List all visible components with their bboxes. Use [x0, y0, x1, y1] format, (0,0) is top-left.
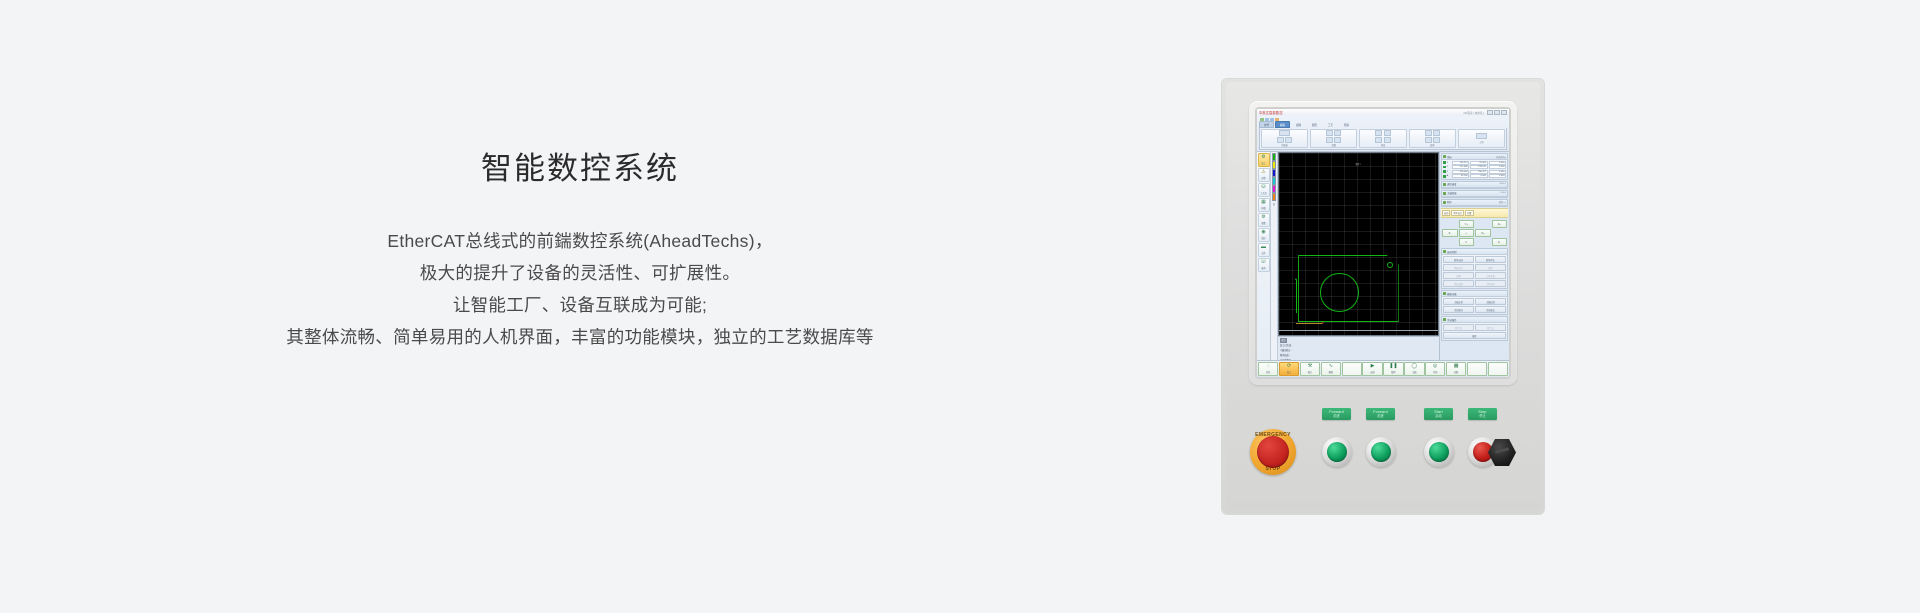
- log-line: 加工已完成…: [1280, 343, 1437, 347]
- start-chip[interactable]: 启动: [1442, 210, 1450, 216]
- air-off-button[interactable]: 吹气关: [1475, 324, 1506, 331]
- pause-chip[interactable]: 单步运行: [1451, 210, 1464, 216]
- ribbon-button[interactable]: [1476, 133, 1487, 139]
- air-on-button[interactable]: 吹气开: [1443, 324, 1474, 331]
- confirm-button[interactable]: 确定: [1443, 332, 1506, 339]
- jog-y-minus[interactable]: Y-: [1459, 238, 1475, 246]
- fkey-label: 模拟: [1329, 370, 1333, 374]
- section-header: 主轴转速 12000: [1442, 191, 1507, 197]
- fkey-simulation[interactable]: ∿ 模拟: [1321, 362, 1341, 376]
- sidebar-rail[interactable]: ⚙ 加工 ⚠ 诊断 ⛁ 工艺库 ▦ 排版: [1257, 152, 1271, 360]
- workpiece-origin-button[interactable]: 工件原点: [1475, 280, 1506, 287]
- sidebar-item-service[interactable]: ☏ 服务: [1258, 258, 1270, 272]
- button-cap-green[interactable]: [1371, 442, 1391, 462]
- cad-x-axis-icon: [1296, 323, 1321, 324]
- grid-icon: ▦: [1261, 200, 1266, 205]
- cad-y-axis-icon: [1296, 280, 1297, 313]
- play-icon: ▶: [1371, 364, 1375, 369]
- eye-icon: ◉: [1261, 230, 1265, 235]
- single-block-button[interactable]: 单段运行: [1443, 264, 1474, 271]
- layer-palette-label: 层: [1272, 202, 1277, 206]
- tab-edit[interactable]: 编辑: [1275, 121, 1290, 128]
- axis-offset-value: 0.000: [1489, 161, 1506, 165]
- gears-icon: ⚙: [1261, 155, 1265, 160]
- fkey-empty[interactable]: [1342, 362, 1362, 376]
- run-toolbar[interactable]: 启动 单步运行 回零: [1441, 208, 1508, 218]
- auxiliary-button-grid[interactable]: 主轴正转 主轴反转 冷却液开 冷却液关: [1442, 297, 1507, 314]
- status-dot-icon: [1443, 183, 1446, 186]
- section-header: 进给速度 2800.0: [1442, 182, 1507, 188]
- ribbon-button[interactable]: [1384, 137, 1391, 143]
- sidebar-item-files[interactable]: ▬ 文件: [1258, 243, 1270, 257]
- spindle-cw-button[interactable]: 主轴正转: [1443, 298, 1474, 305]
- sidebar-item-parameters[interactable]: ⚙ 参数: [1258, 213, 1270, 227]
- sidebar-item-diagnostics[interactable]: ⚠ 诊断: [1258, 168, 1270, 182]
- function-key-bar[interactable]: ◌ 定位 ⟳ 加工 ⚒ 校刀 ∿ 模拟 ▶ 启动: [1257, 360, 1509, 377]
- axis-work-value: 25.500: [1470, 161, 1487, 165]
- jog-pad[interactable]: Y+ Z+ X- ⌂ X+ Y- Z-: [1441, 219, 1508, 247]
- spindle-ccw-button[interactable]: 主轴反转: [1475, 298, 1506, 305]
- motion-control-section: 运动控制 程序启动 程序停止 单段运行 暂停 回零 刀具补偿 坐标设置 工件原点: [1441, 248, 1508, 289]
- axis-offset-value: 0.000: [1489, 170, 1506, 174]
- label-line-2: 启动: [1435, 415, 1441, 418]
- button-label-forward-2: Forward 前进: [1366, 408, 1395, 420]
- ribbon-button[interactable]: [1285, 137, 1292, 143]
- sidebar-item-label: 工艺库: [1260, 191, 1267, 195]
- log-line: 程序校验…: [1280, 353, 1437, 357]
- axis-machine-value: 103.270: [1452, 161, 1469, 165]
- section-title: 手动操作: [1447, 318, 1457, 322]
- fkey-label: 加工: [1287, 370, 1291, 374]
- tab-process[interactable]: 工艺: [1323, 121, 1338, 128]
- tab-graphics[interactable]: 图形: [1307, 121, 1322, 128]
- ribbon-group-label: 工具: [1479, 140, 1483, 144]
- knob-body: [1488, 439, 1516, 466]
- jog-x-minus[interactable]: X-: [1442, 229, 1458, 237]
- coolant-icon: ◎: [1433, 364, 1437, 369]
- ribbon-group-label: 变换: [1430, 143, 1434, 147]
- program-name: 部件.nc: [1499, 200, 1506, 204]
- coordinate-row: X 103.270 25.500 0.000: [1443, 161, 1506, 165]
- axis-label: X: [1447, 162, 1451, 164]
- start-button[interactable]: [1424, 437, 1454, 467]
- ribbon-group-label: 绘图: [1332, 143, 1336, 147]
- gear-icon: ⚙: [1261, 215, 1265, 220]
- section-title: 程序: [1447, 200, 1452, 204]
- ribbon-button[interactable]: [1425, 137, 1432, 143]
- program-section: 程序 部件.nc: [1441, 199, 1508, 207]
- fkey-start[interactable]: ▶ 启动: [1362, 362, 1382, 376]
- cad-hole-circle: [1320, 273, 1359, 312]
- button-label-forward-1: Forward 前进: [1322, 408, 1351, 420]
- jog-y-plus[interactable]: Y+: [1459, 220, 1475, 228]
- status-dot-icon: [1443, 250, 1446, 253]
- jog-spacer: [1475, 220, 1491, 228]
- ribbon-button[interactable]: [1433, 130, 1440, 136]
- tab-file[interactable]: 文件: [1259, 121, 1274, 128]
- status-dot-icon: [1443, 192, 1446, 195]
- log-line: Y轴回原点…: [1280, 348, 1437, 352]
- page-title: 智能数控系统: [0, 150, 1160, 187]
- ribbon-button[interactable]: [1279, 130, 1290, 136]
- fkey-label: 冷却: [1433, 370, 1437, 374]
- spindle-icon: ◯: [1412, 364, 1418, 369]
- ribbon-group-draw[interactable]: 绘图: [1310, 129, 1357, 148]
- ribbon-group-tools[interactable]: 工具: [1458, 129, 1505, 148]
- axis-work-value: 0.000: [1470, 174, 1487, 178]
- feedrate-value: 2800.0: [1499, 183, 1506, 185]
- sidebar-item-monitor[interactable]: ◉ 监控: [1258, 228, 1270, 242]
- cnc-control-panel: 中航达智能数控 NC程序 [ 未命名 ] 文件 编辑: [1222, 79, 1544, 514]
- fkey-machining[interactable]: ⟳ 加工: [1279, 362, 1299, 376]
- ribbon-button[interactable]: [1326, 137, 1333, 143]
- parameter-panel[interactable]: 坐标 (机床坐标) X 103.270 25.500 0.000: [1439, 152, 1509, 360]
- coordinate-row: Z 316.000 250.207 0.000: [1443, 170, 1506, 174]
- axis-label: Z: [1447, 171, 1451, 173]
- ribbon-button[interactable]: [1425, 130, 1432, 136]
- wave-icon: ∿: [1329, 364, 1333, 369]
- emergency-stop-cap[interactable]: [1257, 436, 1289, 468]
- fkey-label: 定位: [1266, 370, 1270, 374]
- cad-baseline: [1279, 330, 1438, 331]
- ribbon-group-label: 剪贴板: [1281, 143, 1288, 147]
- description-line-4: 其整体流畅、简单易用的人机界面，丰富的功能模块，独立的工艺数据库等: [0, 321, 1160, 353]
- axis-label: A: [1447, 175, 1451, 177]
- axis-machine-value: 221.480: [1452, 165, 1469, 169]
- program-stop-button[interactable]: 程序停止: [1475, 256, 1506, 263]
- label-line-2: 前进: [1377, 415, 1383, 418]
- section-title: 主轴转速: [1447, 191, 1457, 195]
- axis-status-icon: [1443, 166, 1446, 169]
- section-note: (机床坐标): [1496, 155, 1506, 159]
- ribbon-groups[interactable]: 剪贴板 绘图 修改 变换: [1259, 128, 1507, 150]
- motion-button-grid[interactable]: 程序启动 程序停止 单段运行 暂停 回零 刀具补偿 坐标设置 工件原点: [1442, 255, 1507, 288]
- description-line-3: 让智能工厂、设备互联成为可能;: [0, 289, 1160, 321]
- warning-icon: ⚠: [1261, 170, 1265, 175]
- layer-swatch-cyan[interactable]: [1272, 177, 1277, 185]
- maximize-icon[interactable]: [1494, 110, 1500, 115]
- manual-button-grid[interactable]: 吹气开 吹气关 确定: [1442, 323, 1507, 340]
- description-block: EtherCAT总线式的前鍴数控系统(AheadTechs)， 极大的提升了设备…: [0, 225, 1160, 353]
- axis-offset-value: 0.000: [1489, 174, 1506, 178]
- fkey-label: 功能: [1454, 370, 1458, 374]
- refresh-icon: ⟳: [1287, 364, 1291, 369]
- fkey-empty[interactable]: [1467, 362, 1487, 376]
- button-cap-green[interactable]: [1327, 442, 1347, 462]
- sidebar-item-label: 加工: [1261, 161, 1265, 165]
- tab-help[interactable]: 帮助: [1339, 121, 1354, 128]
- app-title: 中航达智能数控: [1259, 110, 1283, 115]
- emergency-stop-button[interactable]: EMERGENCY STOP: [1250, 429, 1296, 475]
- fkey-label: 暂停: [1391, 370, 1395, 374]
- monitor-bezel: 中航达智能数控 NC程序 [ 未命名 ] 文件 编辑: [1249, 101, 1517, 385]
- button-label-stop: Stop 停止: [1468, 408, 1497, 420]
- home-button[interactable]: 回零: [1443, 272, 1474, 279]
- sidebar-item-label: 服务: [1261, 266, 1265, 270]
- label-line-2: 停止: [1479, 415, 1485, 418]
- axis-machine-value: 316.000: [1452, 170, 1469, 174]
- fkey-pause[interactable]: ❚❚ 暂停: [1383, 362, 1403, 376]
- screen-titlebar: 中航达智能数控 NC程序 [ 未命名 ]: [1257, 109, 1509, 116]
- cad-canvas[interactable]: 零件1: [1278, 152, 1439, 336]
- close-icon[interactable]: [1501, 110, 1507, 115]
- coordinate-row: A 45.200 0.000 0.000: [1443, 174, 1506, 178]
- ribbon-button[interactable]: [1384, 130, 1391, 136]
- section-title: 进给速度: [1447, 182, 1457, 186]
- mode-selector-knob[interactable]: [1488, 439, 1516, 466]
- coord-setup-button[interactable]: 坐标设置: [1443, 280, 1474, 287]
- cnc-screen[interactable]: 中航达智能数控 NC程序 [ 未命名 ] 文件 编辑: [1257, 109, 1509, 377]
- fkey-positioning[interactable]: ◌ 定位: [1258, 362, 1278, 376]
- section-title: 辅助功能: [1447, 292, 1457, 296]
- jog-spacer: [1442, 238, 1458, 246]
- minimize-icon[interactable]: [1487, 110, 1493, 115]
- ribbon-button[interactable]: [1334, 137, 1341, 143]
- sidebar-item-machining[interactable]: ⚙ 加工: [1258, 153, 1270, 167]
- ribbon: 文件 编辑 视图 图形 工艺 帮助 剪贴板 绘: [1257, 116, 1509, 152]
- folder-icon: ▬: [1261, 245, 1266, 250]
- pause-icon: ❚❚: [1389, 364, 1397, 369]
- marketing-copy: 智能数控系统 EtherCAT总线式的前鍴数控系统(AheadTechs)， 极…: [0, 150, 1160, 353]
- ribbon-group-transform[interactable]: 变换: [1409, 129, 1456, 148]
- layer-swatch-green[interactable]: [1272, 153, 1277, 161]
- jog-spacer: [1475, 238, 1491, 246]
- fkey-label: 校刀: [1308, 370, 1312, 374]
- axis-work-value: 250.207: [1470, 170, 1487, 174]
- status-dot-icon: [1443, 292, 1446, 295]
- sidebar-item-label: 参数: [1261, 221, 1265, 225]
- fkey-functions[interactable]: ▩ 功能: [1446, 362, 1466, 376]
- fkey-coolant[interactable]: ◎ 冷却: [1425, 362, 1445, 376]
- spindle-value: 12000: [1500, 192, 1506, 194]
- wrench-icon: ⚒: [1308, 364, 1312, 369]
- jog-spacer: [1442, 220, 1458, 228]
- cad-annotation: 零件1: [1355, 162, 1361, 166]
- label-line-2: 前进: [1333, 415, 1339, 418]
- button-label-start: Start 启动: [1424, 408, 1453, 420]
- status-dot-icon: [1443, 155, 1446, 158]
- home-chip[interactable]: 回零: [1465, 210, 1473, 216]
- jog-z-minus[interactable]: Z-: [1492, 238, 1508, 246]
- jog-spacer: [1492, 229, 1508, 237]
- coordinate-rows: X 103.270 25.500 0.000 Y 221.480 190.511: [1442, 160, 1507, 179]
- auxiliary-section: 辅助功能 主轴正转 主轴反转 冷却液开 冷却液关: [1441, 290, 1508, 315]
- axis-offset-value: 0.000: [1489, 165, 1506, 169]
- button-cap-green[interactable]: [1429, 442, 1449, 462]
- section-title: 运动控制: [1447, 250, 1457, 254]
- screen-body: ⚙ 加工 ⚠ 诊断 ⛁ 工艺库 ▦ 排版: [1257, 152, 1509, 360]
- axis-label: Y: [1447, 166, 1451, 168]
- log-badge: 提示: [1280, 338, 1287, 343]
- layer-swatch-yellow[interactable]: [1272, 161, 1277, 169]
- ribbon-button[interactable]: [1277, 137, 1284, 143]
- sidebar-item-label: 监控: [1261, 236, 1265, 240]
- ribbon-button[interactable]: [1326, 130, 1333, 136]
- coordinates-section: 坐标 (机床坐标) X 103.270 25.500 0.000: [1441, 153, 1508, 180]
- ribbon-button[interactable]: [1375, 137, 1382, 143]
- hardware-button-area: EMERGENCY STOP Forward 前进 Forward 前进 Sta…: [1236, 397, 1530, 504]
- ribbon-button[interactable]: [1375, 130, 1382, 136]
- layer-swatch-blue[interactable]: [1272, 169, 1277, 177]
- forward-button-2[interactable]: [1366, 437, 1396, 467]
- tool-offset-button[interactable]: 刀具补偿: [1475, 272, 1506, 279]
- ribbon-button[interactable]: [1433, 137, 1440, 143]
- tab-view[interactable]: 视图: [1291, 121, 1306, 128]
- coolant-off-button[interactable]: 冷却液关: [1475, 306, 1506, 313]
- axis-status-icon: [1443, 161, 1446, 164]
- program-start-button[interactable]: 程序启动: [1443, 256, 1474, 263]
- fkey-empty[interactable]: [1488, 362, 1508, 376]
- axis-status-icon: [1443, 170, 1446, 173]
- jog-z-plus[interactable]: Z+: [1492, 220, 1508, 228]
- window-controls[interactable]: NC程序 [ 未命名 ]: [1464, 110, 1507, 115]
- sidebar-item-label: 诊断: [1261, 176, 1265, 180]
- ribbon-group-label: 修改: [1381, 143, 1385, 147]
- jog-home[interactable]: ⌂: [1459, 229, 1475, 237]
- axis-status-icon: [1443, 175, 1446, 178]
- fkey-label: 启动: [1370, 370, 1374, 374]
- axis-machine-value: 45.200: [1452, 174, 1469, 178]
- status-dot-icon: [1443, 201, 1446, 204]
- fkey-label: 主轴: [1412, 370, 1416, 374]
- layer-swatch-orange[interactable]: [1272, 193, 1277, 201]
- fkey-tool-calibration[interactable]: ⚒ 校刀: [1300, 362, 1320, 376]
- forward-button-1[interactable]: [1322, 437, 1352, 467]
- ribbon-group-modify[interactable]: 修改: [1359, 129, 1406, 148]
- canvas-column: 零件1 提示 加工已完成… Y轴回原点… 程序校验… 已加载程序…: [1278, 152, 1439, 360]
- sidebar-item-layout[interactable]: ▦ 排版: [1258, 198, 1270, 212]
- coolant-on-button[interactable]: 冷却液开: [1443, 306, 1474, 313]
- feedrate-section: 进给速度 2800.0: [1441, 181, 1508, 189]
- fkey-spindle[interactable]: ◯ 主轴: [1404, 362, 1424, 376]
- description-line-2: 极大的提升了设备的灵活性、可扩展性。: [0, 257, 1160, 289]
- ribbon-group-clipboard[interactable]: 剪贴板: [1261, 129, 1308, 148]
- sidebar-item-label: 文件: [1261, 251, 1265, 255]
- sidebar-item-label: 排版: [1261, 206, 1265, 210]
- spindle-section: 主轴转速 12000: [1441, 190, 1508, 198]
- circle-icon: ◌: [1267, 364, 1270, 369]
- message-log-panel: 提示 加工已完成… Y轴回原点… 程序校验… 已加载程序… 命令… 自动 X:0…: [1278, 336, 1439, 360]
- description-line-1: EtherCAT总线式的前鍴数控系统(AheadTechs)，: [0, 225, 1160, 257]
- pause-button[interactable]: 暂停: [1475, 264, 1506, 271]
- status-dot-icon: [1443, 318, 1446, 321]
- layer-swatch-magenta[interactable]: [1272, 185, 1277, 193]
- layer-color-palette[interactable]: 层: [1271, 152, 1278, 360]
- manual-section: 手动操作 吹气开 吹气关 确定: [1441, 316, 1508, 341]
- axis-work-value: 190.511: [1470, 165, 1487, 169]
- database-icon: ⛁: [1261, 185, 1265, 190]
- section-title: 坐标: [1447, 155, 1452, 159]
- section-header: 程序 部件.nc: [1442, 200, 1507, 206]
- document-title: NC程序 [ 未命名 ]: [1464, 111, 1484, 115]
- phone-icon: ☏: [1260, 260, 1266, 265]
- sidebar-item-process-library[interactable]: ⛁ 工艺库: [1258, 183, 1270, 197]
- coordinate-row: Y 221.480 190.511 0.000: [1443, 165, 1506, 169]
- ribbon-button[interactable]: [1334, 130, 1341, 136]
- jog-x-plus[interactable]: X+: [1475, 229, 1491, 237]
- keys-icon: ▩: [1454, 364, 1459, 369]
